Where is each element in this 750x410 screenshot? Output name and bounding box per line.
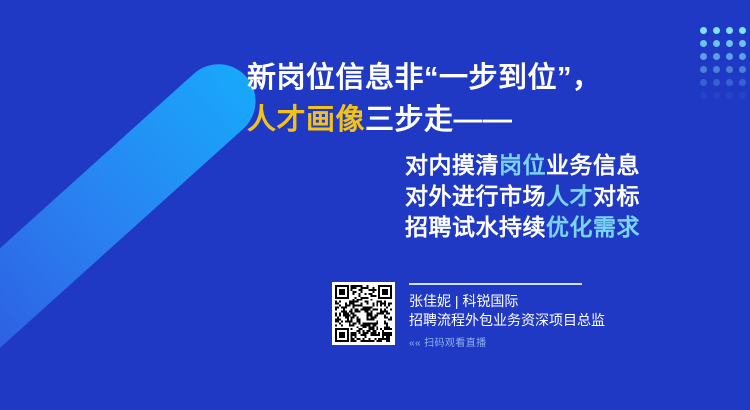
body-line-3-accent: 优化需求 (546, 214, 640, 240)
headline-white-text: 三步走—— (365, 104, 513, 136)
body-line-1-post: 业务信息 (546, 152, 640, 178)
speaker-name: 张佳妮 | 科锐国际 (409, 292, 605, 311)
headline-gold-text: 人才画像 (247, 104, 365, 136)
body-line-3: 招聘试水持续优化需求 (396, 212, 640, 243)
qr-code-image (335, 285, 392, 342)
dot-grid-decoration (700, 27, 750, 107)
body-line-3-pre: 招聘试水持续 (405, 214, 546, 240)
headline-line-1: 新岗位信息非“一步到位”， (247, 57, 647, 99)
body-line-1: 对内摸清岗位业务信息 (396, 150, 640, 181)
body-line-1-accent: 岗位 (499, 152, 546, 178)
scan-note: «« 扫码观看直播 (409, 337, 605, 350)
body-line-2-accent: 人才 (546, 183, 593, 209)
body-line-2-post: 对标 (593, 183, 640, 209)
body-line-2-pre: 对外进行市场 (405, 183, 546, 209)
body-line-1-pre: 对内摸清 (405, 152, 499, 178)
speaker-title: 招聘流程外包业务资深项目总监 (409, 311, 605, 330)
body-lines-group: 对内摸清岗位业务信息 对外进行市场人才对标 招聘试水持续优化需求 (396, 150, 640, 243)
headline-group: 新岗位信息非“一步到位”， 人才画像三步走—— (247, 57, 647, 141)
qr-code[interactable] (332, 282, 395, 345)
speaker-divider (409, 283, 582, 285)
promo-poster: 新岗位信息非“一步到位”， 人才画像三步走—— 对内摸清岗位业务信息 对外进行市… (0, 0, 750, 410)
headline-line-2: 人才画像三步走—— (247, 99, 647, 141)
body-line-2: 对外进行市场人才对标 (396, 181, 640, 212)
speaker-info: 张佳妮 | 科锐国际 招聘流程外包业务资深项目总监 «« 扫码观看直播 (409, 282, 605, 350)
speaker-card: 张佳妮 | 科锐国际 招聘流程外包业务资深项目总监 «« 扫码观看直播 (332, 282, 605, 350)
diagonal-bar-decoration (0, 49, 271, 385)
